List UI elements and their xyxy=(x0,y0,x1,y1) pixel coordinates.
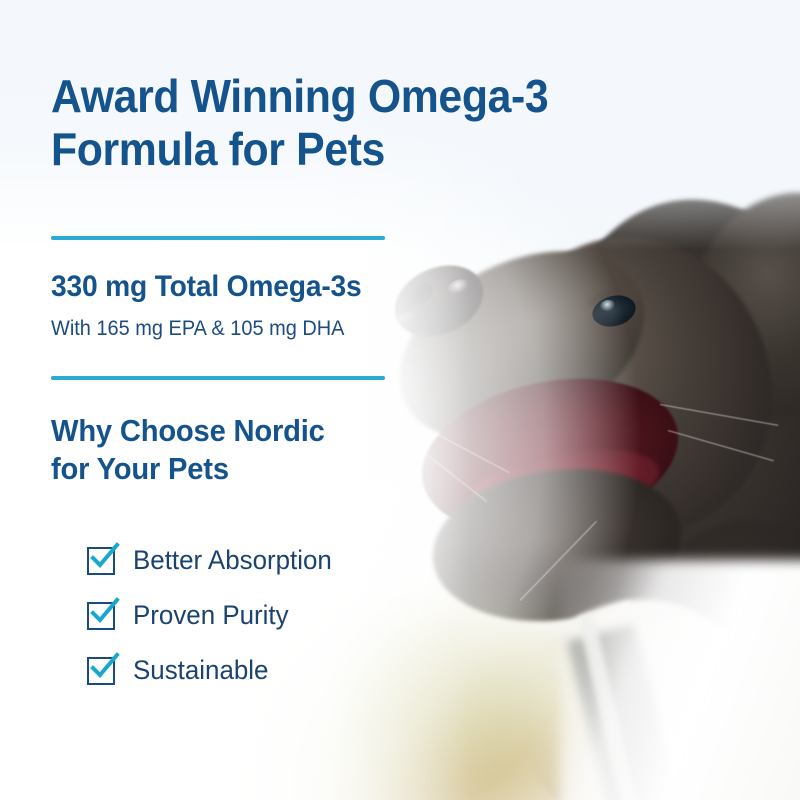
why-choose-heading: Why Choose Nordic for Your Pets xyxy=(51,412,408,488)
divider-bottom xyxy=(51,376,385,380)
list-item: Better Absorption xyxy=(87,533,507,588)
benefits-list: Better Absorption Proven Purity Sustaina… xyxy=(87,533,507,698)
text-content: Award Winning Omega-3 Formula for Pets 3… xyxy=(0,0,800,800)
omega-breakdown-text: With 165 mg EPA & 105 mg DHA xyxy=(51,317,344,341)
why-heading-line-2: for Your Pets xyxy=(51,450,408,488)
page-title: Award Winning Omega-3 Formula for Pets xyxy=(51,70,572,177)
benefit-label: Proven Purity xyxy=(133,600,289,631)
checkbox-checked-icon xyxy=(87,657,115,685)
divider-top xyxy=(51,236,385,240)
benefit-label: Sustainable xyxy=(133,655,268,686)
omega-total-text: 330 mg Total Omega-3s xyxy=(51,270,362,304)
headline-line-2: Formula for Pets xyxy=(51,123,572,176)
headline-line-1: Award Winning Omega-3 xyxy=(51,70,572,123)
benefit-label: Better Absorption xyxy=(133,545,332,576)
checkbox-checked-icon xyxy=(87,602,115,630)
why-heading-line-1: Why Choose Nordic xyxy=(51,412,408,450)
checkbox-checked-icon xyxy=(87,547,115,575)
list-item: Proven Purity xyxy=(87,588,507,643)
product-infographic-card: Award Winning Omega-3 Formula for Pets 3… xyxy=(0,0,800,800)
list-item: Sustainable xyxy=(87,643,507,698)
